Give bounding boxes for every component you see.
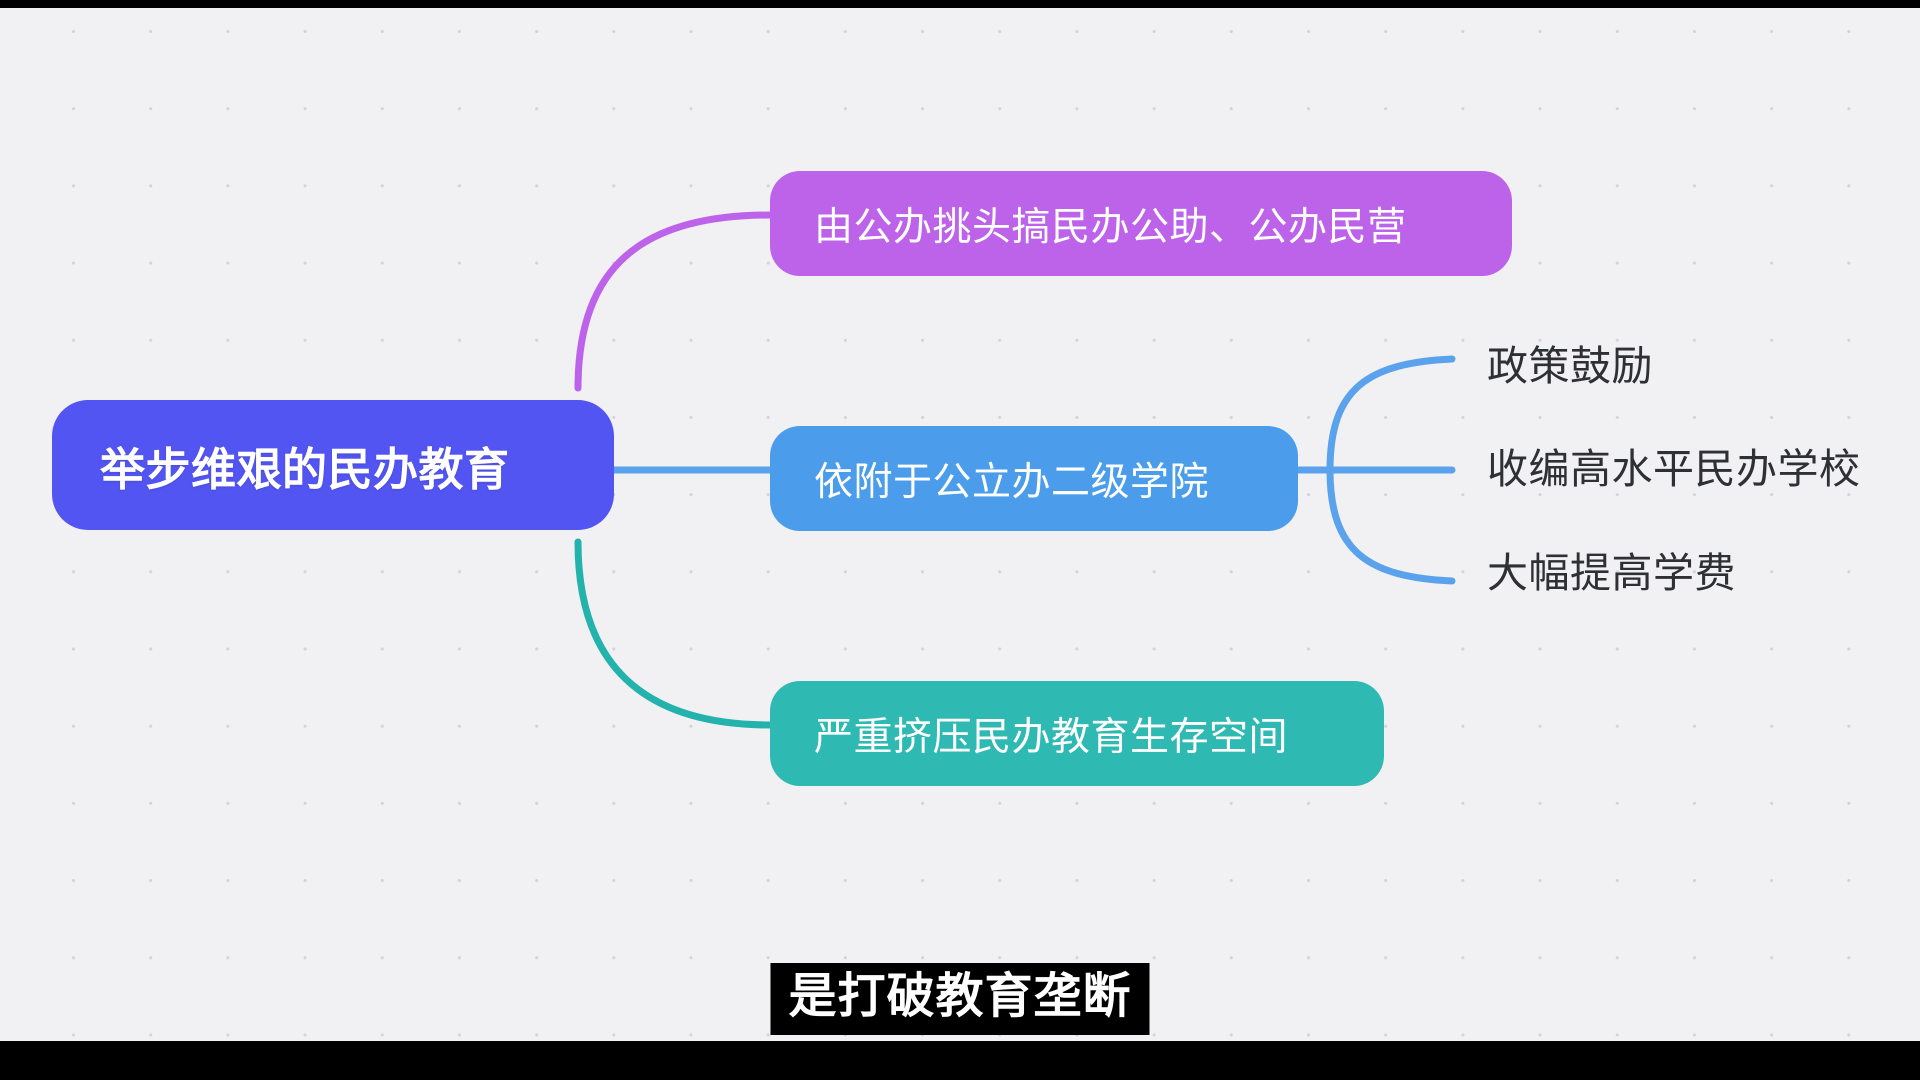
letterbox-bar-bottom	[0, 1041, 1920, 1080]
mindmap-canvas[interactable]: 举步维艰的民办教育 由公办挑头搞民办公助、公办民营 依附于公立办二级学院 严重挤…	[0, 8, 1920, 1041]
mindmap-leaf-node-2[interactable]: 收编高水平民办学校	[1487, 449, 1861, 490]
edge-branch-2-to-leaf-3	[1330, 470, 1452, 581]
mindmap-root-node[interactable]: 举步维艰的民办教育	[52, 400, 614, 530]
branch-node-3-label: 严重挤压民办教育生存空间	[814, 706, 1288, 762]
mindmap-leaf-node-3[interactable]: 大幅提高学费	[1487, 553, 1736, 594]
mindmap-branch-node-2[interactable]: 依附于公立办二级学院	[770, 426, 1298, 531]
leaf-node-3-label: 大幅提高学费	[1487, 550, 1736, 596]
video-subtitle-text: 是打破教育垄断	[788, 970, 1131, 1023]
mindmap-screen: 举步维艰的民办教育 由公办挑头搞民办公助、公办民营 依附于公立办二级学院 严重挤…	[0, 0, 1920, 1080]
video-subtitle: 是打破教育垄断	[770, 963, 1149, 1035]
mindmap-leaf-node-1[interactable]: 政策鼓励	[1487, 346, 1653, 387]
edge-branch-2-to-leaf-1	[1330, 359, 1452, 470]
branch-node-1-label: 由公办挑头搞民办公助、公办民营	[814, 196, 1407, 252]
mindmap-branch-node-1[interactable]: 由公办挑头搞民办公助、公办民营	[770, 171, 1512, 276]
leaf-node-1-label: 政策鼓励	[1487, 343, 1653, 389]
mindmap-branch-node-3[interactable]: 严重挤压民办教育生存空间	[770, 681, 1384, 786]
root-node-label: 举步维艰的民办教育	[100, 433, 510, 498]
leaf-node-2-label: 收编高水平民办学校	[1487, 446, 1861, 492]
edge-root-to-branch-3	[578, 542, 770, 725]
letterbox-bar-top	[0, 0, 1920, 8]
branch-node-2-label: 依附于公立办二级学院	[814, 451, 1209, 507]
edge-root-to-branch-1	[578, 215, 770, 388]
